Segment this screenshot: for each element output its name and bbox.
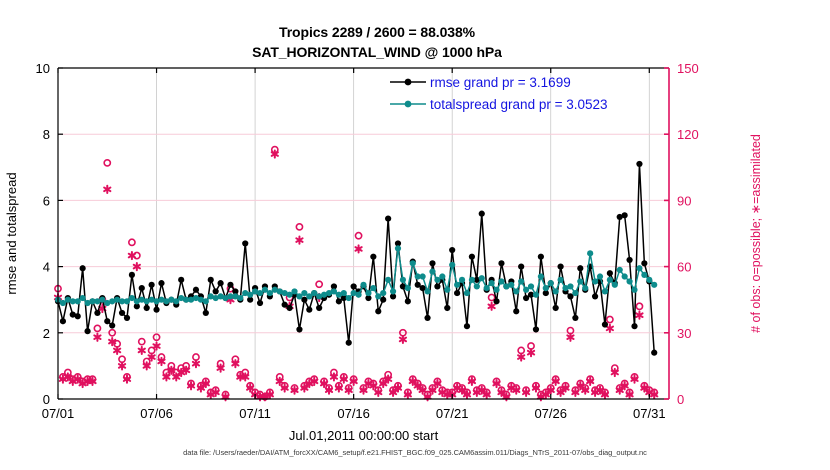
series-point-totalspread: [607, 277, 613, 283]
series-point-rmse: [124, 315, 130, 321]
y-tick-label-left: 0: [43, 392, 50, 407]
series-point-rmse: [449, 247, 455, 253]
legend-marker: [405, 101, 412, 108]
series-point-rmse: [80, 265, 86, 271]
series-point-rmse: [257, 300, 263, 306]
y-tick-label-left: 4: [43, 260, 50, 275]
series-point-totalspread: [612, 282, 618, 288]
series-point-rmse: [444, 305, 450, 311]
y-tick-label-right: 60: [677, 260, 691, 275]
series-point-totalspread: [291, 288, 297, 294]
series-point-rmse: [405, 298, 411, 304]
series-point-totalspread: [626, 278, 632, 284]
series-point-rmse: [454, 290, 460, 296]
series-point-rmse: [479, 211, 485, 217]
series-point-totalspread: [365, 290, 371, 296]
series-point-rmse: [602, 321, 608, 327]
series-point-totalspread: [237, 295, 243, 301]
series-point-rmse: [641, 260, 647, 266]
series-point-rmse: [498, 260, 504, 266]
series-point-totalspread: [449, 262, 455, 268]
series-point-totalspread: [474, 283, 480, 289]
series-point-totalspread: [548, 280, 554, 286]
series-point-totalspread: [203, 298, 209, 304]
series-point-totalspread: [424, 288, 430, 294]
series-point-totalspread: [543, 285, 549, 291]
series-point-totalspread: [597, 273, 603, 279]
series-point-rmse: [533, 326, 539, 332]
obs-diagnostics-chart: 0246810rmse and totalspread0306090120150…: [0, 0, 830, 470]
series-point-totalspread: [429, 268, 435, 274]
legend-label: rmse grand pr = 3.1699: [430, 75, 571, 90]
series-point-rmse: [242, 240, 248, 246]
series-point-rmse: [296, 326, 302, 332]
series-point-rmse: [626, 257, 632, 263]
series-point-rmse: [153, 307, 159, 313]
series-point-totalspread: [533, 292, 539, 298]
x-tick-label: 07/06: [140, 406, 173, 421]
series-point-rmse: [370, 254, 376, 260]
series-point-totalspread: [617, 267, 623, 273]
series-point-rmse: [434, 283, 440, 289]
series-point-totalspread: [489, 280, 495, 286]
series-point-totalspread: [380, 290, 386, 296]
series-point-totalspread: [346, 295, 352, 301]
series-point-rmse: [129, 272, 135, 278]
legend-marker: [405, 79, 412, 86]
series-point-totalspread: [513, 288, 519, 294]
series-point-totalspread: [587, 250, 593, 256]
series-point-rmse: [429, 260, 435, 266]
series-point-rmse: [109, 322, 115, 328]
series-point-totalspread: [469, 277, 475, 283]
series-point-rmse: [607, 270, 613, 276]
x-tick-label: 07/01: [42, 406, 75, 421]
x-tick-label: 07/21: [436, 406, 469, 421]
series-point-totalspread: [395, 245, 401, 251]
series-point-rmse: [208, 277, 214, 283]
series-point-rmse: [518, 264, 524, 270]
series-point-totalspread: [582, 285, 588, 291]
series-point-totalspread: [355, 292, 361, 298]
series-point-rmse: [538, 254, 544, 260]
series-point-totalspread: [646, 277, 652, 283]
figure-root: Tropics 2289 / 2600 = 88.038% SAT_HORIZO…: [0, 0, 830, 470]
series-point-totalspread: [557, 277, 563, 283]
series-point-rmse: [631, 323, 637, 329]
series-point-totalspread: [636, 265, 642, 271]
series-point-rmse: [572, 315, 578, 321]
y-axis-right: 0306090120150# of obs: o=possible; ∗=ass…: [664, 61, 763, 407]
series-point-totalspread: [479, 275, 485, 281]
series-point-rmse: [104, 318, 110, 324]
x-axis-label: Jul.01,2011 00:00:00 start: [289, 428, 439, 443]
series-point-rmse: [193, 287, 199, 293]
series-point-totalspread: [420, 273, 426, 279]
series-point-rmse: [203, 310, 209, 316]
x-tick-label: 07/11: [239, 406, 271, 421]
series-point-rmse: [178, 277, 184, 283]
series-point-rmse: [218, 280, 224, 286]
series-point-totalspread: [641, 272, 647, 278]
series-point-rmse: [286, 305, 292, 311]
series-point-rmse: [94, 310, 100, 316]
y-tick-label-left: 2: [43, 326, 50, 341]
y-tick-label-left: 8: [43, 127, 50, 142]
series-point-totalspread: [439, 273, 445, 279]
series-point-rmse: [513, 308, 519, 314]
series-point-totalspread: [631, 287, 637, 293]
series-point-rmse: [375, 308, 381, 314]
series-point-rmse: [158, 280, 164, 286]
series-point-totalspread: [390, 288, 396, 294]
series-point-rmse: [144, 305, 150, 311]
series-point-rmse: [557, 264, 563, 270]
series-point-totalspread: [400, 277, 406, 283]
y-tick-label-right: 30: [677, 326, 691, 341]
series-point-totalspread: [592, 278, 598, 284]
series-point-rmse: [346, 340, 352, 346]
y-axis-label-left: rmse and totalspread: [4, 172, 19, 294]
y-axis-label-right: # of obs: o=possible; ∗=assimilated: [749, 134, 763, 333]
series-point-rmse: [75, 313, 81, 319]
series-point-rmse: [469, 254, 475, 260]
x-tick-label: 07/26: [534, 406, 567, 421]
x-tick-label: 07/31: [633, 406, 666, 421]
series-point-totalspread: [498, 278, 504, 284]
series-point-totalspread: [410, 260, 416, 266]
series-point-totalspread: [602, 288, 608, 294]
series-point-totalspread: [405, 285, 411, 291]
series-point-rmse: [227, 282, 233, 288]
series-point-totalspread: [370, 285, 376, 291]
series-point-totalspread: [459, 277, 465, 283]
series-point-totalspread: [484, 285, 490, 291]
y-tick-label-right: 120: [677, 127, 699, 142]
y-tick-label-left: 6: [43, 193, 50, 208]
series-point-totalspread: [577, 278, 583, 284]
series-point-totalspread: [528, 283, 534, 289]
y-tick-label-right: 150: [677, 61, 699, 76]
series-point-totalspread: [518, 278, 524, 284]
series-point-totalspread: [80, 295, 86, 301]
series-point-totalspread: [553, 288, 559, 294]
y-axis-left: 0246810rmse and totalspread: [4, 61, 63, 407]
series-point-totalspread: [567, 283, 573, 289]
series-point-rmse: [119, 310, 125, 316]
series-point-rmse: [213, 288, 219, 294]
y-tick-label-right: 90: [677, 193, 691, 208]
series-point-totalspread: [454, 282, 460, 288]
y-tick-label-right: 0: [677, 392, 684, 407]
series-point-totalspread: [360, 282, 366, 288]
series-point-rmse: [424, 315, 430, 321]
series-point-rmse: [651, 350, 657, 356]
series-point-totalspread: [493, 287, 499, 293]
x-tick-label: 07/16: [337, 406, 370, 421]
series-point-rmse: [316, 305, 322, 311]
data-file-footer: data file: /Users/raeder/DAI/ATM_forcXX/…: [0, 448, 830, 457]
series-point-rmse: [553, 305, 559, 311]
plot-background: [58, 68, 669, 399]
series-point-totalspread: [464, 290, 470, 296]
series-point-totalspread: [651, 282, 657, 288]
series-point-totalspread: [622, 273, 628, 279]
series-point-totalspread: [538, 273, 544, 279]
series-point-totalspread: [341, 290, 347, 296]
legend-label: totalspread grand pr = 3.0523: [430, 97, 608, 112]
series-point-rmse: [622, 212, 628, 218]
series-point-totalspread: [508, 282, 514, 288]
series-point-rmse: [60, 318, 66, 324]
series-point-rmse: [84, 328, 90, 334]
series-point-rmse: [139, 285, 145, 291]
series-point-rmse: [464, 323, 470, 329]
y-tick-label-left: 10: [36, 61, 50, 76]
series-point-rmse: [592, 293, 598, 299]
series-point-rmse: [577, 265, 583, 271]
series-point-rmse: [385, 216, 391, 222]
series-point-rmse: [149, 282, 155, 288]
series-point-totalspread: [572, 290, 578, 296]
series-point-rmse: [351, 283, 357, 289]
series-point-totalspread: [385, 277, 391, 283]
series-point-rmse: [493, 298, 499, 304]
series-point-totalspread: [444, 287, 450, 293]
series-point-rmse: [306, 307, 312, 313]
series-point-rmse: [636, 161, 642, 167]
